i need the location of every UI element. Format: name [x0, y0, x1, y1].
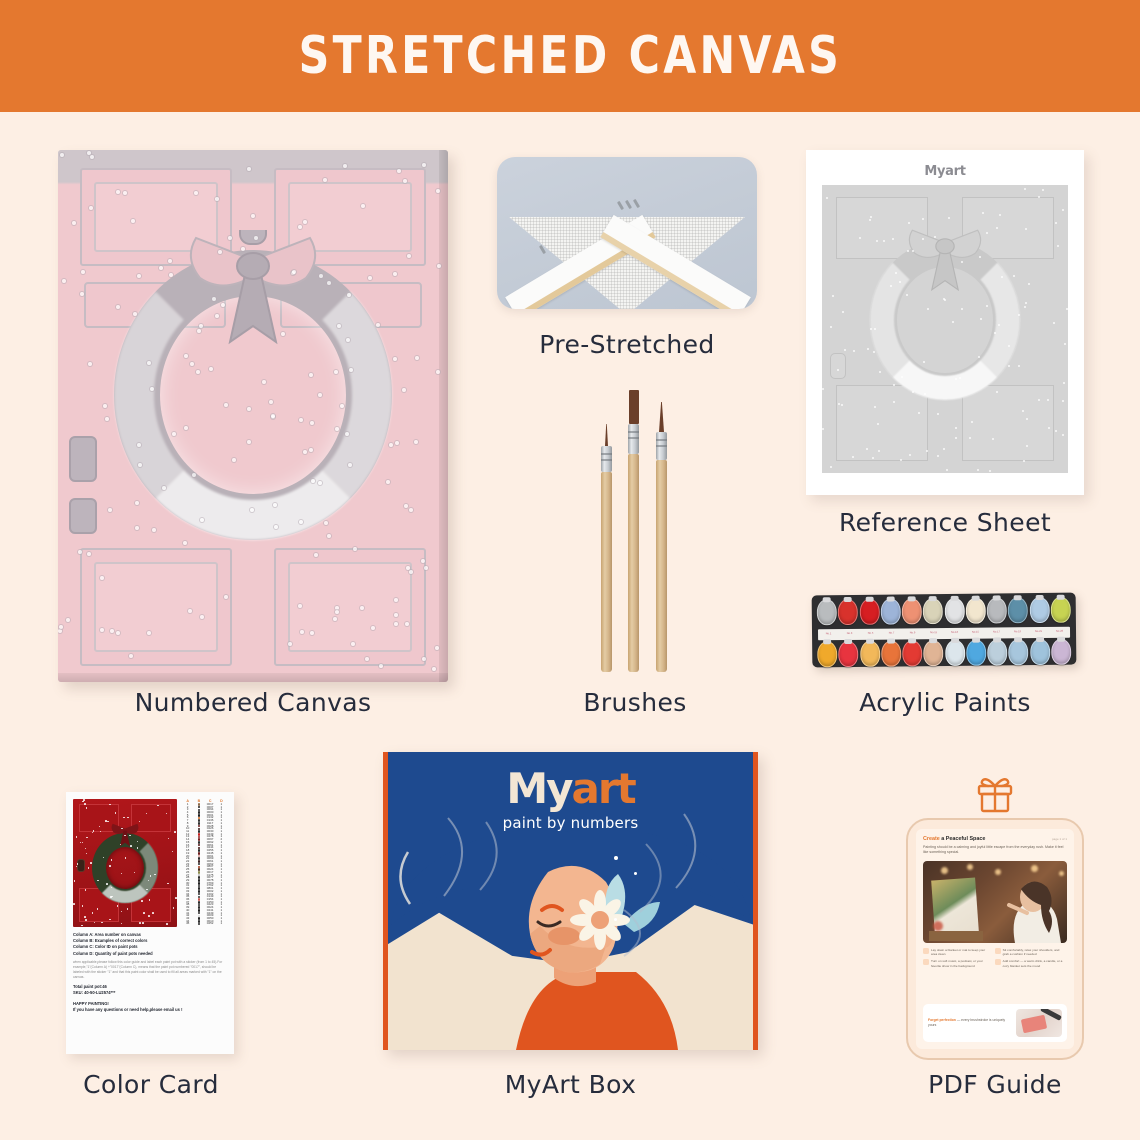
snow-flake	[139, 922, 141, 924]
snow-flake	[172, 851, 174, 853]
snow-flake	[86, 853, 88, 855]
snow-flake	[148, 915, 150, 917]
snow-speck	[215, 314, 219, 318]
snow-speck	[989, 470, 991, 472]
snow-speck	[1057, 245, 1059, 247]
reference-bow	[902, 225, 988, 295]
snow-flake	[82, 905, 84, 907]
snow-speck	[197, 329, 201, 333]
paint-label: No.5	[860, 633, 881, 636]
snow-speck	[977, 469, 979, 471]
caption-numbered-canvas: Numbered Canvas	[58, 688, 448, 717]
snow-flake	[121, 828, 123, 830]
pdf-title: Create a Peaceful Space	[923, 836, 985, 842]
numbered-canvas-image	[58, 150, 448, 682]
snow-speck	[78, 550, 82, 554]
snow-speck	[879, 371, 881, 373]
snow-speck	[404, 504, 408, 508]
snow-speck	[247, 440, 251, 444]
caption-myart-box: MyArt Box	[383, 1070, 758, 1099]
snow-speck	[300, 630, 304, 634]
snow-speck	[371, 626, 375, 630]
page-header: STRETCHED CANVAS	[0, 0, 1140, 112]
snow-speck	[955, 437, 957, 439]
snow-speck	[909, 454, 911, 456]
pdf-tips-list: Lay down a blanket or mat to keep your a…	[923, 948, 1067, 969]
pdf-callout-thumb	[1016, 1009, 1062, 1037]
paint-pot	[987, 639, 1007, 665]
paint-pot	[817, 641, 837, 667]
pdf-callout-text: Forget perfection — every brushstroke is…	[928, 1018, 1011, 1028]
snow-flake	[86, 807, 88, 809]
snow-speck	[844, 349, 846, 351]
paint-label: No.19	[1007, 631, 1028, 634]
snow-speck	[1066, 308, 1068, 310]
snow-speck	[979, 256, 981, 258]
snow-speck	[271, 414, 275, 418]
snow-speck	[318, 481, 322, 485]
snow-speck	[190, 362, 194, 366]
snow-flake	[88, 867, 90, 869]
snow-flake	[86, 837, 88, 839]
snow-flake	[92, 832, 94, 834]
snow-speck	[1024, 188, 1026, 190]
snow-flake	[146, 889, 148, 891]
snow-speck	[395, 441, 399, 445]
snow-speck	[996, 391, 998, 393]
box-tagline: paint by numbers	[388, 814, 753, 832]
snow-speck	[254, 236, 258, 240]
paint-pot	[859, 599, 879, 625]
pdf-guide-tablet: Create a Peaceful Space page 1 of 1 Pain…	[906, 818, 1084, 1060]
snow-flake	[84, 916, 86, 918]
snow-speck	[298, 604, 302, 608]
snow-speck	[873, 351, 875, 353]
myart-brand-logo: Myart paint by numbers	[388, 768, 753, 832]
snow-speck	[986, 232, 988, 234]
paint-pot	[1051, 639, 1071, 665]
snow-speck	[87, 552, 91, 556]
snow-flake	[174, 831, 176, 833]
snow-flake	[85, 919, 87, 921]
canvas-panel	[274, 548, 426, 666]
snow-speck	[943, 448, 945, 450]
paint-label: No.3	[839, 633, 860, 636]
snow-speck	[1055, 222, 1057, 224]
paint-pot	[966, 640, 986, 666]
snow-flake	[111, 859, 113, 861]
snow-speck	[274, 525, 278, 529]
color-card-image: ABCD 10017120007130094140000150001160132…	[66, 792, 234, 1054]
snow-speck	[436, 370, 440, 374]
myart-logo-text: Myart	[822, 164, 1068, 179]
paint-pot	[944, 598, 964, 624]
gift-icon	[974, 776, 1016, 814]
snow-speck	[60, 153, 64, 157]
snow-speck	[407, 254, 411, 258]
snow-flake	[124, 835, 126, 837]
snow-flake	[175, 897, 177, 899]
snow-flake	[94, 922, 96, 924]
snow-speck	[1008, 365, 1010, 367]
snow-speck	[1048, 427, 1050, 429]
snow-flake	[141, 900, 143, 902]
paint-pot	[987, 597, 1007, 623]
snow-flake	[143, 912, 145, 914]
snow-flake	[168, 838, 170, 840]
color-card-photo	[73, 799, 177, 927]
snow-speck	[946, 469, 948, 471]
tip-bullet-icon	[995, 959, 1001, 965]
snow-speck	[169, 273, 173, 277]
snow-speck	[1008, 345, 1010, 347]
snow-speck	[908, 222, 910, 224]
snow-flake	[82, 801, 84, 803]
box-front-face: Myart paint by numbers	[388, 752, 753, 1050]
snow-speck	[822, 428, 824, 430]
snow-speck	[135, 501, 139, 505]
paint-pot	[838, 641, 858, 667]
tip-bullet-icon	[995, 948, 1001, 954]
snow-speck	[837, 369, 839, 371]
snow-speck	[1055, 430, 1057, 432]
snow-flake	[90, 862, 92, 864]
snow-flake	[109, 865, 111, 867]
snow-flake	[127, 908, 129, 910]
snow-speck	[892, 238, 894, 240]
paint-pot	[923, 598, 943, 624]
paint-pot	[902, 640, 922, 666]
pdf-tip-item: Sit comfortably, relax your shoulders, a…	[995, 948, 1063, 957]
snow-speck	[405, 622, 409, 626]
product-brushes	[600, 390, 672, 672]
snow-speck	[334, 370, 338, 374]
paint-label: No.21	[1028, 631, 1049, 634]
paint-label: No.7	[881, 633, 902, 636]
paint-label: No.1	[818, 633, 839, 636]
snow-speck	[159, 266, 163, 270]
caption-acrylic-paints: Acrylic Paints	[800, 688, 1090, 717]
snow-flake	[130, 845, 132, 847]
snow-speck	[922, 238, 924, 240]
snow-flake	[121, 923, 123, 925]
flat-brush	[628, 390, 639, 672]
snow-speck	[327, 281, 331, 285]
sku-code: SKU: 40-50-LU2574***	[73, 990, 227, 996]
liner-brush	[601, 424, 612, 672]
product-numbered-canvas	[58, 150, 448, 682]
snow-speck	[88, 362, 92, 366]
snow-speck	[59, 625, 63, 629]
tip-text: Lay down a blanket or mat to keep your a…	[931, 948, 991, 957]
snow-flake	[82, 842, 84, 844]
color-card-table: ABCD 10017120007130094140000150001160132…	[182, 799, 227, 927]
pdf-title-accent: Create	[923, 836, 940, 842]
snow-flake	[106, 883, 108, 885]
snow-speck	[866, 448, 868, 450]
product-pdf-guide: Create a Peaceful Space page 1 of 1 Pain…	[906, 776, 1084, 1060]
snow-speck	[327, 534, 331, 538]
myart-box-image: Myart paint by numbers	[383, 752, 758, 1050]
pre-stretched-image	[497, 157, 757, 309]
snow-flake	[84, 803, 86, 805]
snow-speck	[1062, 209, 1064, 211]
page-title: STRETCHED CANVAS	[298, 26, 841, 86]
snow-speck	[351, 642, 355, 646]
pdf-callout: Forget perfection — every brushstroke is…	[923, 1004, 1067, 1042]
snow-speck	[874, 406, 876, 408]
caption-pre-stretched: Pre-Stretched	[462, 330, 792, 359]
snow-speck	[251, 214, 255, 218]
snow-speck	[436, 189, 440, 193]
staple-icon	[633, 199, 640, 208]
snow-speck	[414, 440, 418, 444]
snow-flake	[74, 880, 76, 882]
snow-flake	[76, 836, 78, 838]
paint-pot-row-bottom	[817, 639, 1071, 671]
snow-speck	[209, 367, 213, 371]
snow-flake	[77, 863, 79, 865]
snow-flake	[166, 923, 168, 925]
paint-pot	[1008, 597, 1028, 623]
sparkle-dot	[634, 872, 637, 875]
paint-tray: No.1No.3No.5No.7No.9No.11No.13No.15No.17…	[812, 593, 1077, 668]
snow-speck	[1062, 434, 1064, 436]
snow-speck	[303, 450, 307, 454]
snow-speck	[1062, 400, 1064, 402]
snow-speck	[994, 332, 996, 334]
snow-speck	[172, 432, 176, 436]
snow-speck	[147, 631, 151, 635]
paint-pot-row-top	[817, 597, 1071, 629]
snow-speck	[1064, 343, 1066, 345]
pdf-tip-item: Add comfort — a warm drink, a candle, or…	[995, 959, 1063, 968]
paint-label: No.17	[986, 632, 1007, 635]
snow-speck	[376, 323, 380, 327]
snow-speck	[72, 221, 76, 225]
snow-speck	[1025, 302, 1027, 304]
legend-column-d: Column D: Quantity of paint pots needed	[73, 951, 227, 957]
snow-flake	[149, 899, 151, 901]
snow-speck	[409, 508, 413, 512]
snow-speck	[147, 361, 151, 365]
snow-speck	[853, 350, 855, 352]
snow-speck	[978, 356, 980, 358]
reference-sheet-image: Myart	[806, 150, 1084, 495]
snow-speck	[832, 295, 834, 297]
snow-speck	[842, 311, 844, 313]
contact-text: If you have any questions or need help,p…	[73, 1007, 227, 1013]
snow-speck	[1028, 283, 1030, 285]
snow-speck	[314, 553, 318, 557]
snow-speck	[852, 456, 854, 458]
snow-speck	[422, 657, 426, 661]
snow-speck	[937, 455, 939, 457]
canvas-door-lock	[69, 498, 97, 534]
snow-speck	[379, 664, 383, 668]
snow-flake	[142, 922, 144, 924]
snow-speck	[1018, 314, 1020, 316]
snow-speck	[999, 214, 1001, 216]
snow-flake	[81, 925, 83, 927]
logo-art-text: art	[572, 764, 635, 813]
pdf-tip-item: Lay down a blanket or mat to keep your a…	[923, 948, 991, 957]
color-table-row: 4502521	[182, 923, 227, 926]
pdf-hero-photo	[923, 861, 1067, 943]
snow-speck	[311, 479, 315, 483]
snow-speck	[838, 403, 840, 405]
snow-flake	[85, 848, 87, 850]
tip-bullet-icon	[923, 948, 929, 954]
canvas-bottom-edge	[58, 673, 448, 682]
paint-pot	[817, 599, 837, 625]
sparkle-dot	[614, 856, 618, 860]
snow-speck	[912, 250, 914, 252]
snow-speck	[996, 227, 998, 229]
snow-speck	[108, 508, 112, 512]
paint-pot	[945, 640, 965, 666]
snow-speck	[365, 657, 369, 661]
snow-speck	[105, 417, 109, 421]
paint-pot	[923, 640, 943, 666]
snow-speck	[192, 473, 196, 477]
snow-speck	[135, 526, 139, 530]
pdf-title-rest: a Peaceful Space	[940, 836, 986, 842]
snow-speck	[406, 566, 410, 570]
snow-speck	[859, 237, 861, 239]
tip-bullet-icon	[923, 959, 929, 965]
snow-speck	[81, 270, 85, 274]
paint-pot	[1029, 597, 1049, 623]
box-edge-right	[753, 752, 758, 1050]
snow-flake	[101, 922, 103, 924]
snow-speck	[394, 598, 398, 602]
snow-speck	[1025, 228, 1027, 230]
staple-icon	[617, 201, 624, 210]
snow-speck	[100, 628, 104, 632]
callout-accent: Forget perfection	[928, 1018, 956, 1022]
canvas-panel	[80, 548, 232, 666]
snow-speck	[878, 450, 880, 452]
snow-speck	[948, 217, 950, 219]
paint-pot	[1030, 639, 1050, 665]
snow-speck	[922, 218, 924, 220]
paint-pot	[902, 598, 922, 624]
snow-speck	[830, 326, 832, 328]
canvas-side-edge	[439, 150, 448, 682]
snow-speck	[89, 206, 93, 210]
snow-speck	[58, 629, 62, 633]
snow-speck	[1024, 306, 1026, 308]
product-color-card: ABCD 10017120007130094140000150001160132…	[66, 792, 234, 1054]
round-brush	[656, 402, 667, 672]
snow-speck	[137, 274, 141, 278]
snow-speck	[288, 642, 292, 646]
staple-icon	[625, 200, 632, 209]
snow-flake	[127, 817, 129, 819]
tip-text: Turn on soft music, a podcast, or your f…	[931, 959, 991, 968]
snow-speck	[969, 437, 971, 439]
snow-speck	[348, 463, 352, 467]
paint-pot	[966, 598, 986, 624]
product-acrylic-paints: No.1No.3No.5No.7No.9No.11No.13No.15No.17…	[812, 594, 1076, 666]
product-pre-stretched	[497, 157, 757, 309]
paint-pot	[838, 599, 858, 625]
product-reference-sheet: Myart	[806, 150, 1084, 495]
snow-flake	[123, 817, 125, 819]
pdf-intro-text: Painting should be a calming and joyful …	[923, 845, 1067, 856]
snow-speck	[224, 595, 228, 599]
snow-speck	[162, 486, 166, 490]
paint-pot	[881, 640, 901, 666]
snow-speck	[830, 466, 832, 468]
snow-flake	[137, 847, 139, 849]
pdf-page: Create a Peaceful Space page 1 of 1 Pain…	[916, 829, 1074, 1049]
snow-speck	[349, 368, 353, 372]
caption-reference-sheet: Reference Sheet	[806, 508, 1084, 537]
paint-pot	[1008, 639, 1028, 665]
caption-pdf-guide: PDF Guide	[906, 1070, 1084, 1099]
snow-speck	[1023, 460, 1025, 462]
snow-flake	[173, 907, 175, 909]
reference-artwork	[822, 185, 1068, 473]
sparkle-dot	[614, 918, 617, 921]
snow-speck	[867, 348, 869, 350]
snow-flake	[80, 842, 82, 844]
snow-speck	[343, 164, 347, 168]
paint-pot	[880, 598, 900, 624]
snow-flake	[152, 912, 154, 914]
snow-speck	[1053, 322, 1055, 324]
caption-brushes: Brushes	[470, 688, 800, 717]
pdf-page-number: page 1 of 1	[1052, 837, 1067, 841]
snow-speck	[123, 191, 127, 195]
snow-flake	[73, 903, 75, 905]
tip-text: Sit comfortably, relax your shoulders, a…	[1003, 948, 1063, 957]
snow-flake	[92, 912, 94, 914]
snow-speck	[955, 378, 957, 380]
snow-speck	[1042, 189, 1044, 191]
snow-speck	[893, 384, 895, 386]
paint-pot	[860, 641, 880, 667]
paint-label: No.9	[902, 632, 923, 635]
paint-label: No.13	[944, 632, 965, 635]
product-myart-box: Myart paint by numbers	[383, 752, 758, 1050]
color-card-note: when applicable,please follow this color…	[73, 960, 227, 980]
snow-speck	[937, 413, 939, 415]
snow-speck	[1018, 365, 1020, 367]
snow-flake	[121, 911, 123, 913]
snow-speck	[335, 610, 339, 614]
snow-speck	[309, 373, 313, 377]
snow-speck	[409, 570, 413, 574]
logo-my-text: My	[506, 764, 571, 813]
paint-label: No.11	[923, 632, 944, 635]
snow-flake	[167, 883, 169, 885]
snow-speck	[841, 404, 843, 406]
snow-speck	[66, 618, 70, 622]
snow-speck	[955, 427, 957, 429]
pdf-tip-item: Turn on soft music, a podcast, or your f…	[923, 959, 991, 968]
snow-flake	[110, 896, 112, 898]
snow-flake	[105, 820, 107, 822]
caption-color-card: Color Card	[36, 1070, 266, 1099]
paint-label: No.15	[965, 632, 986, 635]
tip-text: Add comfort — a warm drink, a candle, or…	[1003, 959, 1063, 968]
snow-speck	[1026, 445, 1028, 447]
snow-flake	[117, 905, 119, 907]
snow-speck	[184, 354, 188, 358]
